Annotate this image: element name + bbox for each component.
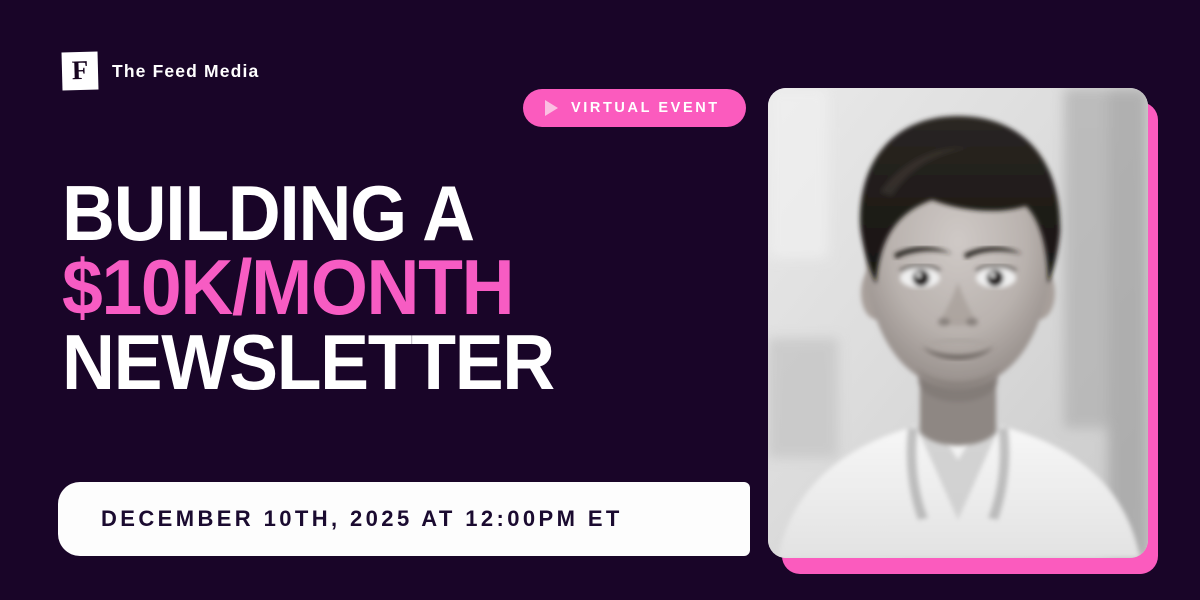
brand-mark-letter: F bbox=[71, 56, 88, 83]
portrait-frame bbox=[768, 88, 1148, 558]
headline-line-1: BUILDING A bbox=[62, 176, 720, 250]
headline-line-2: $10K/MONTH bbox=[62, 250, 720, 324]
headline-line-3: NEWSLETTER bbox=[62, 325, 720, 399]
badge-label: VIRTUAL EVENT bbox=[571, 100, 720, 116]
event-date-text: DECEMBER 10TH, 2025 AT 12:00PM ET bbox=[101, 506, 623, 532]
brand-name: The Feed Media bbox=[112, 61, 259, 82]
feed-logo-icon: F bbox=[62, 52, 99, 91]
status-badge-virtual-event: VIRTUAL EVENT bbox=[523, 89, 746, 127]
speaker-portrait bbox=[768, 88, 1158, 574]
brand-logo[interactable]: F The Feed Media bbox=[62, 52, 259, 90]
portrait-photo bbox=[768, 88, 1148, 558]
play-icon bbox=[545, 100, 558, 116]
event-promo-banner: F The Feed Media VIRTUAL EVENT BUILDING … bbox=[0, 0, 1200, 600]
event-date-banner: DECEMBER 10TH, 2025 AT 12:00PM ET bbox=[58, 482, 750, 556]
page-title: BUILDING A $10K/MONTH NEWSLETTER bbox=[62, 176, 762, 399]
